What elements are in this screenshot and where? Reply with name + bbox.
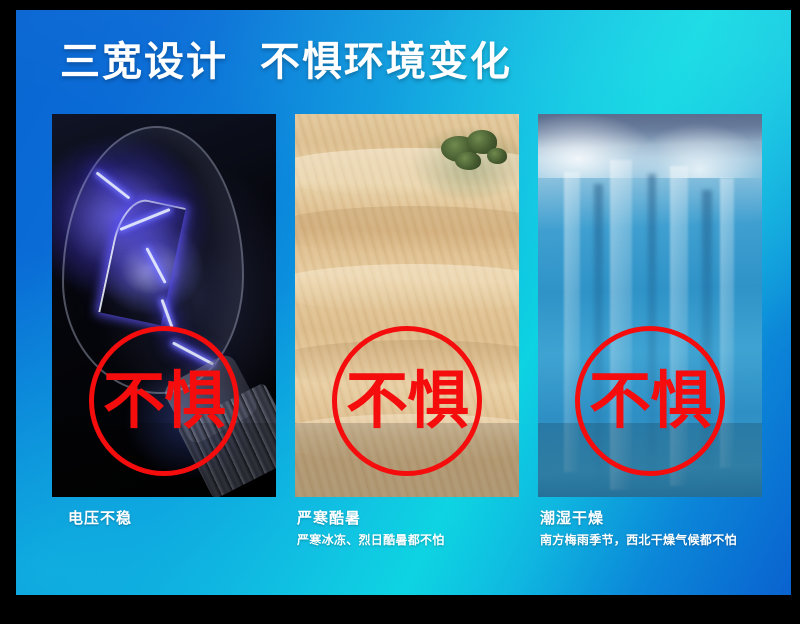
desert-sand-dunes-photo: 不惧 [295,114,519,497]
caption-title: 潮湿干燥 [540,509,762,529]
stamp-label: 不惧 [589,370,711,432]
ice-ridge-1 [564,172,580,472]
feature-panel-row: 不惧 电压不稳 [52,114,764,584]
stamp-label: 不惧 [346,370,468,432]
lightbulb-electric-arc-photo: 不惧 [52,114,276,497]
blue-glacier-ice-photo: 不惧 [538,114,762,497]
caption-title: 严寒酷暑 [297,509,519,529]
dune-ridge-2 [295,206,519,254]
desert-shrub-3 [455,152,481,170]
page-title: 三宽设计 不惧环境变化 [60,40,512,85]
promo-slide: 三宽设计 不惧环境变化 不惧 [16,10,791,595]
dune-ridge-1 [295,148,519,196]
caption-subtitle: 严寒冰冻、烈日酷暑都不怕 [297,532,505,549]
caption-title: 电压不稳 [68,509,276,529]
feature-panel-temperature[interactable]: 不惧 严寒酷暑 严寒冰冻、烈日酷暑都不怕 [295,114,519,584]
slide-stage: 三宽设计 不惧环境变化 不惧 [0,0,800,624]
feature-panel-voltage[interactable]: 不惧 电压不稳 [52,114,276,584]
panel-caption: 潮湿干燥 南方梅雨季节，西北干燥气候都不怕 [538,497,762,549]
stamp-badge: 不惧 [332,326,482,476]
panel-caption: 电压不稳 [52,497,276,532]
caption-subtitle: 南方梅雨季节，西北干燥气候都不怕 [540,532,748,549]
ice-snow-cap [538,114,762,178]
stamp-label: 不惧 [103,370,225,432]
desert-shrub-4 [487,148,507,164]
feature-panel-humidity[interactable]: 不惧 潮湿干燥 南方梅雨季节，西北干燥气候都不怕 [538,114,762,584]
panel-caption: 严寒酷暑 严寒冰冻、烈日酷暑都不怕 [295,497,519,549]
stamp-badge: 不惧 [89,326,239,476]
dune-ridge-3 [295,264,519,312]
ice-ridge-4 [720,178,734,468]
stamp-badge: 不惧 [575,326,725,476]
